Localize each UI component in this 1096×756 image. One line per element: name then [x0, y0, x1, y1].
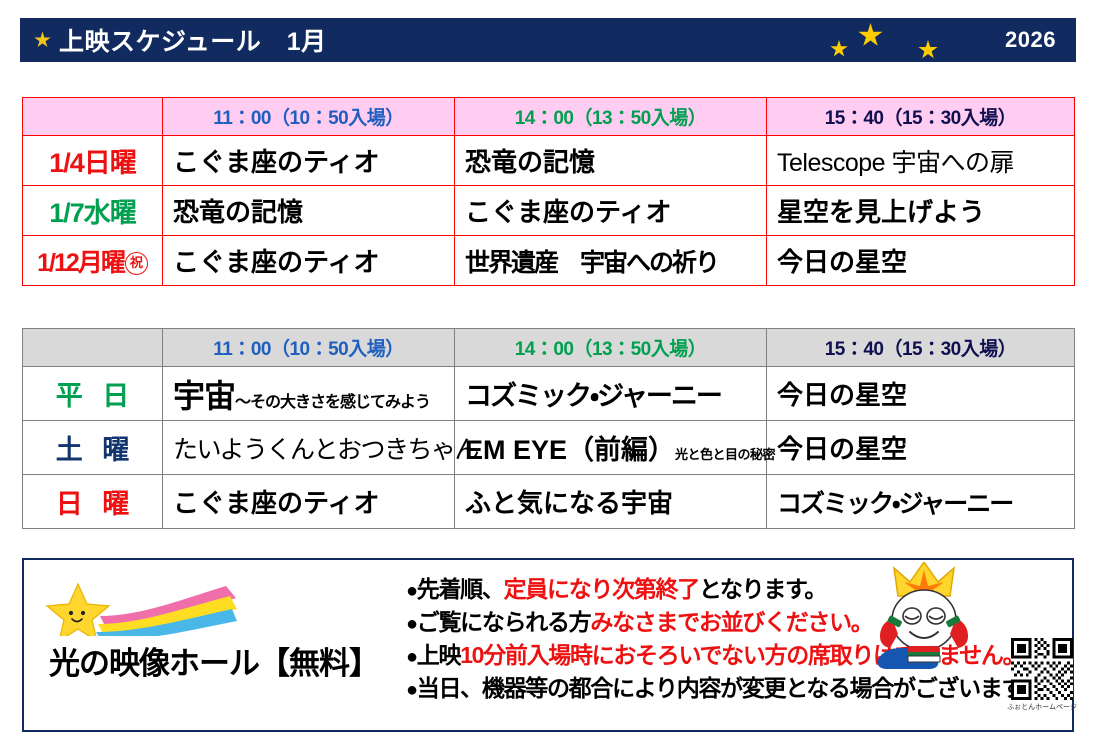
program-main-title: たいようくんとおつきちゃん	[173, 436, 478, 464]
program-main-title: コズミック・ジャーニー	[465, 381, 721, 411]
header-bar: 上映スケジュール 1月 2026	[20, 18, 1076, 62]
program-cell-slot3: 今日の星空	[767, 236, 1075, 286]
bullet-icon: ●	[406, 679, 417, 701]
star-icon	[34, 32, 51, 49]
qr-code-icon[interactable]	[1011, 638, 1073, 700]
table-header-row: 11：00（10：50入場） 14：00（13：50入場） 15：40（15：3…	[23, 98, 1075, 136]
day-cell: 日 曜	[23, 475, 163, 529]
header-left-group: 上映スケジュール 1月	[34, 22, 327, 58]
program-cell-slot2: EM EYE（前編）光と色と目の秘密	[455, 421, 767, 475]
bullet-icon: ●	[406, 646, 417, 668]
header-cell-slot3: 15：40（15：30入場）	[767, 329, 1075, 367]
star-icon	[830, 40, 848, 58]
program-cell-slot3: 星空を見上げよう	[767, 186, 1075, 236]
program-cell-slot1: こぐま座のティオ	[163, 475, 455, 529]
qr-block: ふぉとんホームページ	[996, 638, 1088, 712]
program-cell-slot3: 今日の星空	[767, 367, 1075, 421]
notice-box: 光の映像ホール【無料】 ●先着順、定員になり次第終了となります。 ●ご覧になられ…	[22, 558, 1074, 732]
program-cell-slot1: こぐま座のティオ	[163, 136, 455, 186]
day-cell: 平 日	[23, 367, 163, 421]
notice-text-highlight: みなさまでお並びください。	[590, 609, 872, 635]
table-row: 1/7水曜 恐竜の記憶 こぐま座のティオ 星空を見上げよう	[23, 186, 1075, 236]
header-cell-slot2: 14：00（13：50入場）	[455, 98, 767, 136]
qr-caption-label: ふぉとんホームページ	[996, 702, 1088, 712]
table-row: 土 曜 たいようくんとおつきちゃん EM EYE（前編）光と色と目の秘密 今日の…	[23, 421, 1075, 475]
program-cell-slot2: 恐竜の記憶	[455, 136, 767, 186]
program-cell-slot1: こぐま座のティオ	[163, 236, 455, 286]
table-row: 1/4日曜 こぐま座のティオ 恐竜の記憶 Telescope 宇宙への扉	[23, 136, 1075, 186]
notice-text: 先着順、	[417, 576, 504, 602]
program-cell-slot2: ふと気になる宇宙	[455, 475, 767, 529]
header-cell-slot1: 11：00（10：50入場）	[163, 329, 455, 367]
program-cell-slot2: 世界遺産 宇宙への祈り	[455, 236, 767, 286]
program-main-title: EM EYE（前編）	[465, 435, 675, 465]
header-cell-slot2: 14：00（13：50入場）	[455, 329, 767, 367]
day-cell: 土 曜	[23, 421, 163, 475]
date-cell: 1/4日曜	[23, 136, 163, 186]
program-cell-slot1: たいようくんとおつきちゃん	[163, 421, 455, 475]
special-schedule-table: 11：00（10：50入場） 14：00（13：50入場） 15：40（15：3…	[22, 97, 1075, 286]
table-row: 日 曜 こぐま座のティオ ふと気になる宇宙 コズミック・ジャーニー	[23, 475, 1075, 529]
program-subtitle: 光と色と目の秘密	[675, 447, 775, 462]
program-cell-slot3: Telescope 宇宙への扉	[767, 136, 1075, 186]
date-label: 1/12月曜	[37, 249, 124, 277]
program-cell-slot1: 恐竜の記憶	[163, 186, 455, 236]
notice-text-highlight: 定員になり次第終了	[504, 576, 699, 602]
hall-name-label: 光の映像ホール【無料】	[34, 638, 394, 683]
date-cell: 1/12月曜祝	[23, 236, 163, 286]
table-row: 1/12月曜祝 こぐま座のティオ 世界遺産 宇宙への祈り 今日の星空	[23, 236, 1075, 286]
program-main-title: 宇宙	[173, 378, 235, 414]
holiday-badge: 祝	[125, 252, 148, 275]
program-cell-slot2: コズミック・ジャーニー	[455, 367, 767, 421]
notice-text: ご覧になられる方	[417, 609, 591, 635]
page-title: 上映スケジュール 1月	[59, 22, 327, 58]
regular-schedule-table: 11：00（10：50入場） 14：00（13：50入場） 15：40（15：3…	[22, 328, 1075, 529]
table-row: 平 日 宇宙～その大きさを感じてみよう コズミック・ジャーニー 今日の星空	[23, 367, 1075, 421]
program-cell-slot3: コズミック・ジャーニー	[767, 475, 1075, 529]
hall-block: 光の映像ホール【無料】	[34, 578, 394, 683]
date-label: 1/4日曜	[49, 148, 136, 178]
date-label: 1/7水曜	[49, 198, 136, 228]
year-label: 2026	[1005, 27, 1056, 53]
star-icon	[918, 40, 938, 60]
program-cell-slot2: こぐま座のティオ	[455, 186, 767, 236]
program-subtitle: ～その大きさを感じてみよう	[235, 394, 430, 411]
program-cell-slot3: 今日の星空	[767, 421, 1075, 475]
notice-text: 上映	[417, 642, 460, 668]
header-cell-slot3: 15：40（15：30入場）	[767, 98, 1075, 136]
header-right-group: 2026	[810, 18, 1060, 62]
header-cell-slot1: 11：00（10：50入場）	[163, 98, 455, 136]
header-cell-blank	[23, 98, 163, 136]
header-cell-blank	[23, 329, 163, 367]
program-cell-slot1: 宇宙～その大きさを感じてみよう	[163, 367, 455, 421]
star-icon	[858, 23, 883, 48]
table-header-row: 11：00（10：50入場） 14：00（13：50入場） 15：40（15：3…	[23, 329, 1075, 367]
date-cell: 1/7水曜	[23, 186, 163, 236]
bullet-icon: ●	[406, 613, 417, 635]
mascot-character-icon	[864, 562, 984, 682]
bullet-icon: ●	[406, 580, 417, 602]
shooting-star-icon	[40, 578, 240, 636]
notice-text: となります。	[699, 576, 826, 602]
program-label: Telescope 宇宙への扉	[777, 149, 1014, 177]
